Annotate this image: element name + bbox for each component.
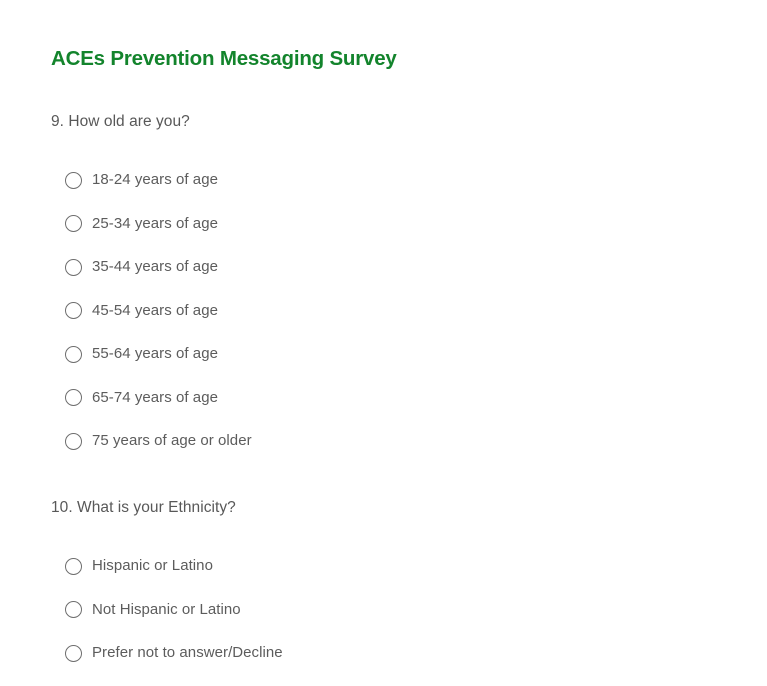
radio-option-label: 18-24 years of age <box>92 169 218 191</box>
radio-circle-icon[interactable] <box>65 346 82 363</box>
radio-option-label: Not Hispanic or Latino <box>92 599 241 621</box>
radio-option-25-34[interactable]: 25-34 years of age <box>51 213 252 235</box>
radio-option-label: 75 years of age or older <box>92 430 252 452</box>
radio-group-ethnicity: Hispanic or Latino Not Hispanic or Latin… <box>51 555 283 664</box>
radio-option-label: 45-54 years of age <box>92 300 218 322</box>
question-block-9: 9. How old are you? 18-24 years of age 2… <box>51 111 252 474</box>
radio-circle-icon[interactable] <box>65 172 82 189</box>
survey-page: ACEs Prevention Messaging Survey 9. How … <box>0 0 767 685</box>
radio-option-35-44[interactable]: 35-44 years of age <box>51 256 252 278</box>
radio-circle-icon[interactable] <box>65 215 82 232</box>
radio-circle-icon[interactable] <box>65 389 82 406</box>
page-title: ACEs Prevention Messaging Survey <box>51 46 397 72</box>
radio-option-label: Prefer not to answer/Decline <box>92 642 283 664</box>
radio-option-label: 65-74 years of age <box>92 387 218 409</box>
radio-circle-icon[interactable] <box>65 601 82 618</box>
radio-circle-icon[interactable] <box>65 259 82 276</box>
radio-option-75-or-older[interactable]: 75 years of age or older <box>51 430 252 452</box>
radio-circle-icon[interactable] <box>65 302 82 319</box>
radio-option-45-54[interactable]: 45-54 years of age <box>51 300 252 322</box>
question-prompt-10: 10. What is your Ethnicity? <box>51 497 283 519</box>
radio-option-label: Hispanic or Latino <box>92 555 213 577</box>
question-prompt-9: 9. How old are you? <box>51 111 252 133</box>
radio-option-label: 25-34 years of age <box>92 213 218 235</box>
radio-option-label: 35-44 years of age <box>92 256 218 278</box>
radio-option-prefer-not-to-answer[interactable]: Prefer not to answer/Decline <box>51 642 283 664</box>
radio-option-not-hispanic-or-latino[interactable]: Not Hispanic or Latino <box>51 599 283 621</box>
radio-option-55-64[interactable]: 55-64 years of age <box>51 343 252 365</box>
radio-option-label: 55-64 years of age <box>92 343 218 365</box>
radio-group-age: 18-24 years of age 25-34 years of age 35… <box>51 169 252 452</box>
radio-circle-icon[interactable] <box>65 433 82 450</box>
radio-circle-icon[interactable] <box>65 645 82 662</box>
radio-option-65-74[interactable]: 65-74 years of age <box>51 387 252 409</box>
question-block-10: 10. What is your Ethnicity? Hispanic or … <box>51 497 283 686</box>
radio-option-hispanic-or-latino[interactable]: Hispanic or Latino <box>51 555 283 577</box>
radio-circle-icon[interactable] <box>65 558 82 575</box>
radio-option-18-24[interactable]: 18-24 years of age <box>51 169 252 191</box>
